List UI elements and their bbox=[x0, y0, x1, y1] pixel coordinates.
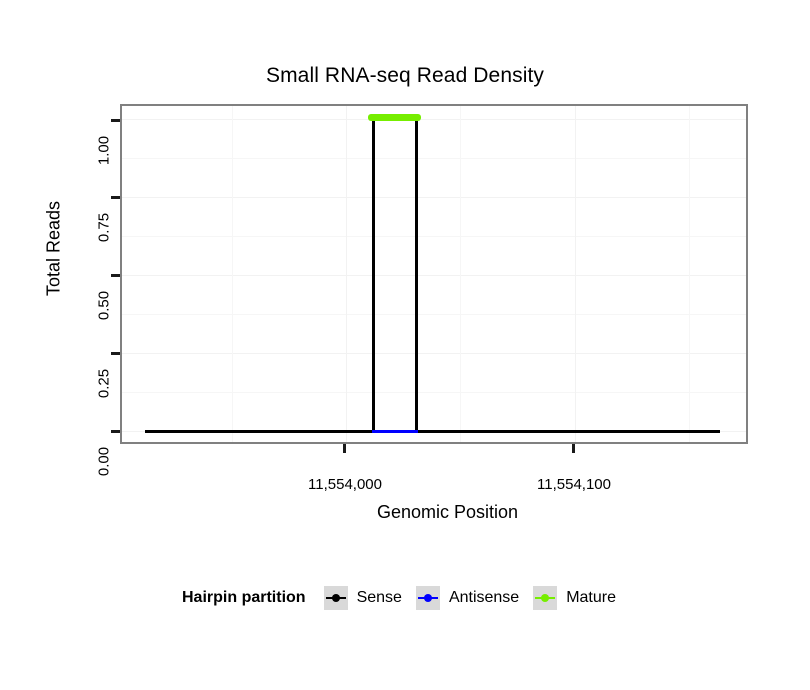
y-tick-label-0: 0.00 bbox=[96, 432, 113, 492]
gridline-y-0_125 bbox=[122, 392, 746, 393]
chart-title: Small RNA-seq Read Density bbox=[0, 63, 810, 89]
legend-title: Hairpin partition bbox=[182, 589, 306, 607]
legend: Hairpin partition Sense Antisense Mature bbox=[0, 584, 810, 612]
gridline-y-0_375 bbox=[122, 314, 746, 315]
x-tick-label-0: 11,554,000 bbox=[275, 476, 415, 493]
antisense-segment bbox=[372, 430, 418, 433]
y-tick-label-3: 0.75 bbox=[96, 198, 113, 258]
x-tick-mark-1 bbox=[572, 444, 575, 453]
gridline-y-0_75 bbox=[122, 197, 746, 198]
plot-panel bbox=[120, 104, 748, 444]
gridline-x-11554050 bbox=[460, 106, 461, 442]
sense-riser-right bbox=[415, 118, 418, 433]
mature-segment bbox=[368, 114, 421, 121]
legend-item-sense[interactable]: Sense bbox=[322, 584, 402, 612]
legend-label-antisense: Antisense bbox=[449, 589, 519, 607]
gridline-x-11554150 bbox=[689, 106, 690, 442]
gridline-x-11553950 bbox=[232, 106, 233, 442]
legend-label-mature: Mature bbox=[566, 589, 616, 607]
legend-item-mature[interactable]: Mature bbox=[531, 584, 616, 612]
sense-baseline-left bbox=[145, 430, 374, 433]
legend-key-mature-icon bbox=[531, 584, 559, 612]
y-tick-label-1: 0.25 bbox=[96, 354, 113, 414]
x-tick-mark-0 bbox=[343, 444, 346, 453]
gridline-y-0_625 bbox=[122, 236, 746, 237]
legend-key-sense-icon bbox=[322, 584, 350, 612]
gridline-y-0_25 bbox=[122, 353, 746, 354]
chart-figure: Small RNA-seq Read Density Total Reads G… bbox=[0, 0, 810, 690]
y-tick-label-4: 1.00 bbox=[96, 121, 113, 181]
legend-key-antisense-icon bbox=[414, 584, 442, 612]
gridline-y-0_50 bbox=[122, 275, 746, 276]
legend-item-antisense[interactable]: Antisense bbox=[414, 584, 519, 612]
gridline-x-11554100 bbox=[575, 106, 576, 442]
gridline-x-11554000 bbox=[346, 106, 347, 442]
sense-baseline-right bbox=[415, 430, 720, 433]
x-tick-label-1: 11,554,100 bbox=[504, 476, 644, 493]
y-tick-label-2: 0.50 bbox=[96, 276, 113, 336]
sense-riser-left bbox=[372, 118, 375, 433]
gridline-y-1_00 bbox=[122, 119, 746, 120]
gridline-y-0_875 bbox=[122, 158, 746, 159]
x-axis-title: Genomic Position bbox=[145, 502, 750, 523]
legend-label-sense: Sense bbox=[357, 589, 402, 607]
plot-area bbox=[122, 106, 746, 442]
